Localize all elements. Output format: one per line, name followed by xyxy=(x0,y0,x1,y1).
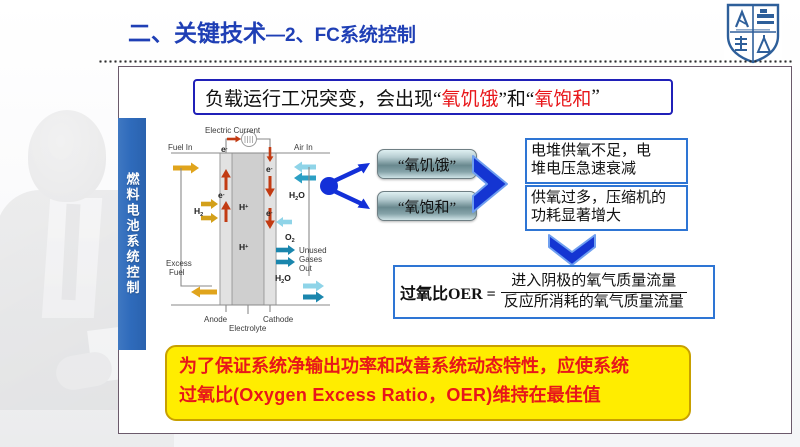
dotted-divider xyxy=(98,60,792,63)
statement-text-before: 负载运行工况突变，会出现“ xyxy=(205,84,441,111)
conclusion-line-2-cn-a: 过氧比 xyxy=(179,385,233,405)
oer-formula-box: 过氧比OER = 进入阴极的氧气质量流量 反应所消耗的氧气质量流量 xyxy=(393,265,715,319)
formula-left-hand-side: 过氧比OER = xyxy=(400,280,501,304)
diagram-label-air-in: Air In xyxy=(294,143,313,152)
statement-text-after: ” xyxy=(591,86,599,108)
branch-arrow-icon xyxy=(318,160,380,212)
slide-title: 二、关键技术—2、FC系统控制 xyxy=(128,14,416,48)
formula-numerator: 进入阴极的氧气质量流量 xyxy=(508,273,679,291)
conclusion-line-1: 为了保证系统净输出功率和改善系统动态特性，应使系统 xyxy=(179,352,677,381)
chevron-down-arrow-icon xyxy=(545,232,599,268)
section-side-tab-label: 燃料电池系统控制 xyxy=(126,172,139,296)
diagram-label-h2o-bottom: H2O xyxy=(275,273,291,285)
diagram-label-cathode: Cathode xyxy=(263,315,294,324)
consequence-line-1: 电堆供氧不足，电 xyxy=(531,142,683,160)
state-chip-label: “氧饱和” xyxy=(398,196,456,217)
diagram-label-o2: O2 xyxy=(285,232,295,244)
slide-canvas: 二、关键技术—2、FC系统控制 xyxy=(0,0,800,447)
formula-fraction: 进入阴极的氧气质量流量 反应所消耗的氧气质量流量 xyxy=(501,273,687,311)
state-chip-oxygen-starvation[interactable]: “氧饥饿” xyxy=(377,149,477,179)
conclusion-line-2-en: (Oxygen Excess Ratio，OER) xyxy=(233,385,493,405)
consequence-line-2: 功耗显著增大 xyxy=(531,207,683,225)
fuel-cell-schematic: .lbl { font-family:"Liberation Sans",san… xyxy=(163,126,338,334)
title-separator: —2、 xyxy=(266,25,315,46)
state-chip-label: “氧饥饿” xyxy=(398,154,456,175)
statement-term-oxygen-starvation: 氧饥饿 xyxy=(441,84,498,111)
consequence-line-2: 堆电压急速衰减 xyxy=(531,160,683,178)
consequence-box-starvation: 电堆供氧不足，电 堆电压急速衰减 xyxy=(525,138,688,184)
diagram-label-electric-current: Electric Current xyxy=(205,126,261,135)
statement-box: 负载运行工况突变，会出现“氧饥饿”和“氧饱和” xyxy=(193,79,673,115)
statement-term-oxygen-saturation: 氧饱和 xyxy=(534,84,591,111)
diagram-label-h2o-top: H2O xyxy=(289,190,305,202)
conclusion-banner: 为了保证系统净输出功率和改善系统动态特性，应使系统 过氧比(Oxygen Exc… xyxy=(165,345,691,421)
diagram-label-electrolyte: Electrolyte xyxy=(229,324,267,333)
diagram-label-unused-3: Out xyxy=(299,264,313,273)
title-main: 二、关键技术 xyxy=(128,20,266,46)
consequence-box-saturation: 供氧过多，压缩机的 功耗显著增大 xyxy=(525,185,688,231)
consequence-line-1: 供氧过多，压缩机的 xyxy=(531,189,683,207)
diagram-label-h2: H2 xyxy=(194,206,203,218)
diagram-label-unused-2: Gases xyxy=(299,255,322,264)
chevron-right-arrow-icon xyxy=(467,152,517,216)
statement-text-mid: ”和“ xyxy=(498,84,534,111)
conclusion-line-2: 过氧比(Oxygen Excess Ratio，OER)维持在最佳值 xyxy=(179,381,677,410)
conclusion-line-2-cn-b: 维持在最佳值 xyxy=(493,385,601,405)
diagram-label-anode: Anode xyxy=(204,315,228,324)
university-shield-logo xyxy=(724,2,782,64)
section-side-tab[interactable]: 燃料电池系统控制 xyxy=(118,118,146,350)
diagram-label-excess-2: Fuel xyxy=(169,268,185,277)
diagram-label-unused-1: Unused xyxy=(299,246,327,255)
state-chip-oxygen-saturation[interactable]: “氧饱和” xyxy=(377,191,477,221)
formula-denominator: 反应所消耗的氧气质量流量 xyxy=(501,292,687,311)
diagram-label-excess-1: Excess xyxy=(166,259,192,268)
title-tail: FC系统控制 xyxy=(315,25,416,46)
diagram-label-fuel-in: Fuel In xyxy=(168,143,192,152)
